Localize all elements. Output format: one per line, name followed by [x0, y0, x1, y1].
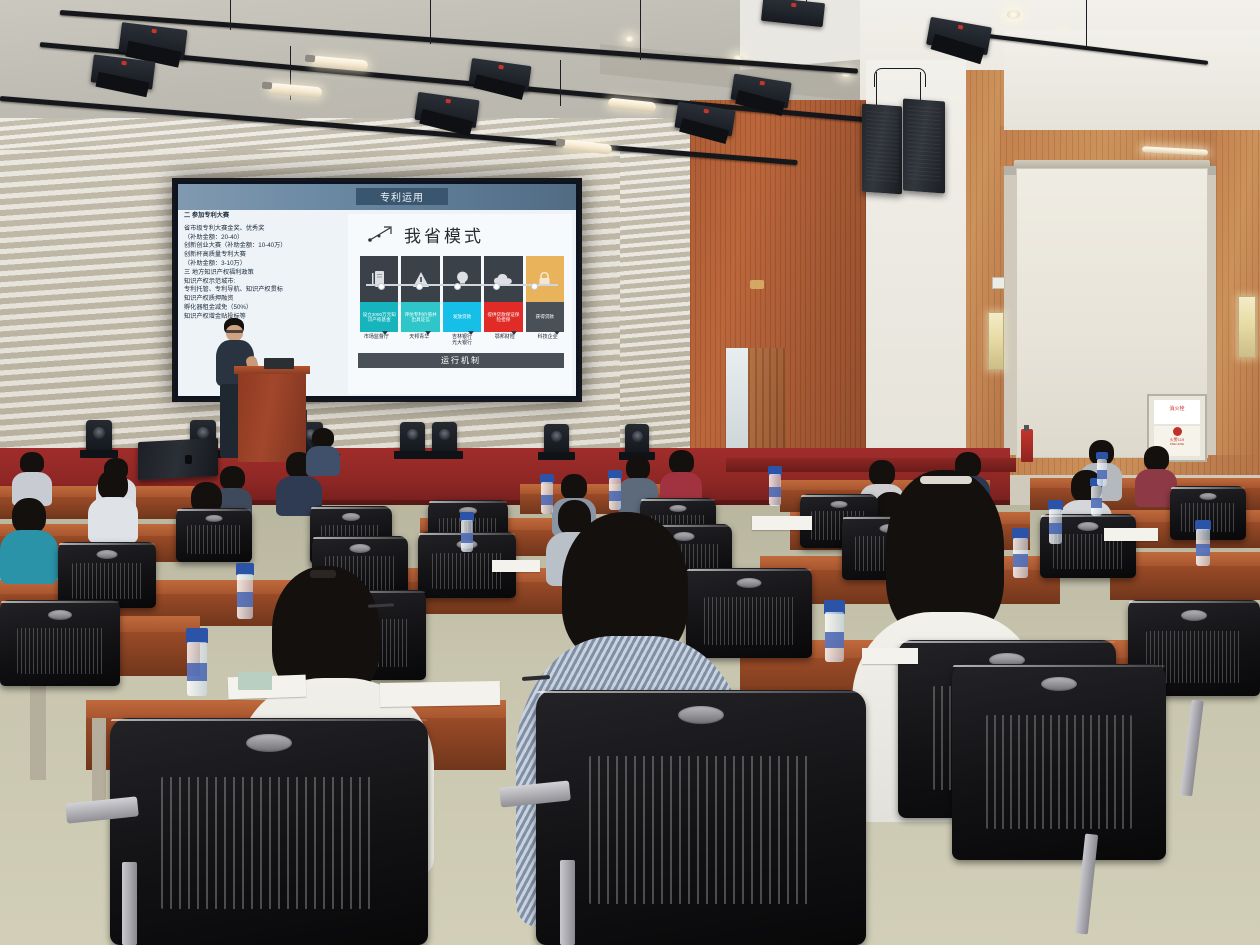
water-bottle-9[interactable]	[1048, 500, 1063, 544]
chair-logo-badge	[670, 505, 687, 512]
chair-logo-badge	[1181, 610, 1207, 621]
speaker-grille-right	[907, 106, 941, 182]
water-bottle-11[interactable]	[460, 512, 474, 552]
org-label-1: 天邦青华	[399, 334, 440, 352]
moving-head-lens	[632, 431, 643, 442]
stage-monitor-speaker	[138, 438, 218, 480]
color-box-2: 发放贷款	[443, 302, 481, 332]
bottle-label	[541, 495, 554, 505]
moving-head-lens	[551, 431, 562, 442]
org-label-3: 鄂邦财险	[484, 334, 525, 352]
bottle-label	[1049, 523, 1063, 534]
water-bottle-6[interactable]	[540, 474, 554, 514]
handout-paper-2[interactable]	[380, 681, 500, 707]
slide-text-line-8: 专利托管、专利导航、知识产权贯标	[184, 286, 342, 295]
tube-mount-2	[262, 82, 273, 90]
timeline-dot-2	[416, 283, 423, 290]
chair-logo-badge	[97, 550, 118, 559]
chair-logo-badge	[206, 515, 223, 522]
downlight-1	[1007, 10, 1020, 19]
chair-mesh-panel	[161, 777, 377, 909]
par-indicator-icon	[958, 25, 964, 30]
chair-leg-fg-center	[560, 860, 575, 945]
moving-head-base-1	[80, 450, 118, 458]
slide-title-tab: 专利运用	[356, 188, 448, 205]
stage-door-opening	[726, 348, 748, 458]
moving-head-lens	[93, 427, 105, 439]
chair-foreground-left[interactable]	[110, 718, 428, 945]
chair-near-left[interactable]	[0, 600, 120, 686]
arrow-glyph-icon	[368, 224, 394, 244]
handout-paper-3[interactable]	[752, 516, 812, 530]
tube-mount-1	[305, 55, 316, 63]
chair-mesh-panel	[17, 628, 103, 674]
moving-head-base-5	[538, 452, 575, 460]
attendee-hair	[98, 470, 128, 500]
wall-sconce-right	[1238, 296, 1256, 358]
moving-head-base-4	[426, 451, 463, 459]
par-indicator-icon	[445, 99, 451, 104]
diagram-color-row: 设立3000万元知识产权基金 评估专利价值并出具证信 发放贷款 提供贷款保证保险…	[360, 302, 564, 332]
slide-text-line-4: 创新杯高质量专利大赛	[184, 251, 342, 260]
attendee-back-5	[306, 428, 340, 474]
presenter-head	[226, 325, 243, 341]
chair-logo-badge	[678, 706, 724, 724]
moving-head-light-3	[400, 422, 425, 453]
run-bar-label: 运行机制	[441, 355, 481, 366]
water-bottle-12[interactable]	[1096, 452, 1108, 486]
chair-logo-badge	[48, 610, 72, 620]
lock-icon	[526, 256, 564, 302]
attendee-back-1	[12, 452, 52, 502]
org-label-2: 吉林银行 光大银行	[442, 334, 483, 352]
moving-head-light-1	[86, 420, 112, 452]
timeline-dot-5	[531, 283, 538, 290]
attendee-hair	[561, 474, 587, 500]
par-indicator-icon	[759, 81, 765, 86]
diagram-label-row: 市场监督厅 天邦青华 吉林银行 光大银行 鄂邦财险 科技企业	[356, 334, 568, 352]
moving-head-lens	[439, 429, 450, 440]
attendee-torso	[306, 446, 340, 476]
chair-mesh-panel	[986, 715, 1132, 829]
water-bottle-3[interactable]	[824, 600, 845, 662]
wood-right-edge	[1216, 120, 1260, 470]
org-label-0: 市场监督厅	[356, 334, 397, 352]
moving-head-lens	[407, 429, 418, 440]
chair-logo-badge	[246, 734, 292, 752]
stage-door-panel[interactable]	[748, 348, 786, 464]
moving-head-light-6	[625, 424, 649, 454]
attendee-hairband-icon	[920, 476, 972, 484]
attendee-hair	[1144, 446, 1169, 471]
handout-paper-6[interactable]	[1104, 528, 1158, 541]
bottle-label	[237, 592, 253, 607]
document-icon	[360, 256, 398, 302]
timeline-dot-4	[493, 283, 500, 290]
slide-header-label: 专利运用	[380, 189, 424, 204]
podium-laptop	[264, 358, 294, 369]
chair-logo-badge	[342, 513, 360, 521]
chair-foreground-right-b[interactable]	[952, 664, 1166, 860]
water-bottle-4[interactable]	[1012, 528, 1029, 578]
slide-text-line-6: 三 地方知识产权福利政策	[184, 269, 342, 278]
attendee-hair-clip-icon	[310, 570, 336, 578]
water-bottle-1[interactable]	[186, 628, 208, 696]
par-indicator-icon	[791, 3, 796, 8]
bottle-label	[825, 632, 844, 648]
timeline-dot-3	[454, 283, 461, 290]
bottle-label	[769, 487, 782, 497]
chair-leg-fg-left	[122, 862, 137, 945]
org-label-4: 科技企业	[527, 334, 568, 352]
podium	[238, 370, 306, 462]
attendee-hair	[669, 450, 694, 474]
attendee-hair	[20, 452, 44, 474]
bottle-label	[1196, 544, 1210, 556]
speaker-grille-left	[866, 111, 898, 183]
bottle-label	[609, 491, 622, 501]
wall-sign-icon	[750, 280, 764, 289]
slide-text-line-1: 省市级专利大赛金奖、优秀奖	[184, 225, 342, 234]
truss-hanger-7	[560, 60, 561, 106]
handout-paper-5[interactable]	[492, 560, 540, 572]
bottle-label	[1097, 470, 1108, 479]
diagram-icon-row	[360, 256, 564, 302]
par-indicator-icon	[703, 109, 709, 114]
chair-far-1[interactable]	[176, 508, 252, 562]
bottle-label	[1091, 498, 1103, 508]
diagram-timeline	[366, 284, 558, 286]
truss-hanger-1	[230, 0, 231, 30]
slide-text-line-3: 创新创业大赛（补助金额：10-40万）	[184, 242, 342, 251]
truss-hanger-3	[640, 0, 641, 60]
fire-hose-emblem-icon	[1173, 427, 1182, 436]
truss-hanger-5	[1086, 0, 1087, 48]
attendee-torso	[0, 530, 58, 584]
fire-hose-cabinet-window: 消火栓	[1154, 400, 1200, 424]
water-bottle-7[interactable]	[608, 470, 622, 510]
color-box-1: 评估专利价值并出具证信	[401, 302, 439, 332]
water-bottle-2[interactable]	[236, 563, 254, 619]
downlight-6	[625, 36, 634, 42]
bottle-label	[461, 533, 474, 543]
color-box-3: 提供贷款保证保险担保	[484, 302, 522, 332]
water-bottle-5[interactable]	[1195, 520, 1211, 566]
slide-text-line-0: 二 参加专利大赛	[184, 212, 342, 221]
handout-paper-4[interactable]	[862, 648, 918, 664]
cloud-icon	[484, 256, 522, 302]
chair-logo-badge	[1200, 493, 1217, 500]
par-indicator-icon	[151, 29, 156, 34]
attendee-mid-2	[88, 470, 138, 536]
slide-text-line-5: （补助金额：3-10万）	[184, 260, 342, 269]
slide-diagram-panel: 我省模式	[348, 214, 572, 394]
attendee-hair	[312, 428, 334, 448]
bottle-label	[187, 663, 207, 681]
chair-mesh-panel	[187, 525, 242, 554]
par-indicator-icon	[498, 65, 504, 70]
chair-mid-1[interactable]	[58, 542, 156, 608]
bottle-label	[1013, 554, 1028, 567]
chair-logo-badge	[831, 501, 848, 508]
chair-logo-badge	[1041, 677, 1077, 691]
slide-text-line-9: 知识产权质押融资	[184, 295, 342, 304]
moving-head-light-5	[544, 424, 569, 454]
moving-head-lens	[197, 427, 209, 439]
white-wall-far-right	[1004, 30, 1260, 130]
bottle-cap	[186, 628, 208, 643]
water-bottle-8[interactable]	[768, 466, 782, 506]
chair-mesh-panel	[589, 756, 813, 904]
presenter-glasses-icon	[226, 330, 243, 333]
attendee-hair	[12, 498, 46, 534]
notebook-open[interactable]	[238, 672, 272, 690]
chair-logo-badge	[350, 544, 371, 553]
monitor-speaker-port	[185, 455, 192, 464]
fire-extinguisher-handle	[1024, 425, 1029, 431]
lightbulb-icon	[443, 256, 481, 302]
diagram-title: 我省模式	[404, 222, 484, 247]
attendee-mid-1	[0, 498, 58, 578]
fire-extinguisher	[1021, 429, 1033, 462]
slide-text-line-10: 孵化器租金减免（50%）	[184, 304, 342, 313]
moving-head-light-4	[432, 422, 457, 453]
tube-mount-3	[556, 139, 566, 147]
warning-icon	[401, 256, 439, 302]
shade-roller[interactable]	[1014, 160, 1210, 168]
timeline-dot-1	[378, 283, 385, 290]
chair-mesh-panel	[72, 563, 143, 599]
conference-hall-photo: 专利运用 二 参加专利大赛 省市级专利大赛金奖、优秀奖 （补助金额：20-40）…	[0, 0, 1260, 945]
speaker-bracket	[874, 68, 926, 87]
color-box-4: 获得贷款	[526, 302, 564, 332]
par-indicator-icon	[121, 61, 126, 66]
wall-sconce-left	[988, 312, 1004, 370]
color-box-0: 设立3000万元知识产权基金	[360, 302, 398, 332]
chair-logo-badge	[1078, 522, 1099, 531]
fire-hose-label-main: 消火栓	[1154, 400, 1200, 412]
truss-hanger-2	[430, 0, 431, 44]
diagram-run-bar: 运行机制	[358, 353, 564, 368]
attendee-hair	[626, 456, 650, 480]
attendee-torso	[88, 497, 138, 543]
slide-text-line-11: 知识产权增金贴投标等	[184, 313, 342, 322]
wall-switch-plate[interactable]	[992, 277, 1005, 289]
chair-foreground-center[interactable]	[536, 690, 866, 945]
